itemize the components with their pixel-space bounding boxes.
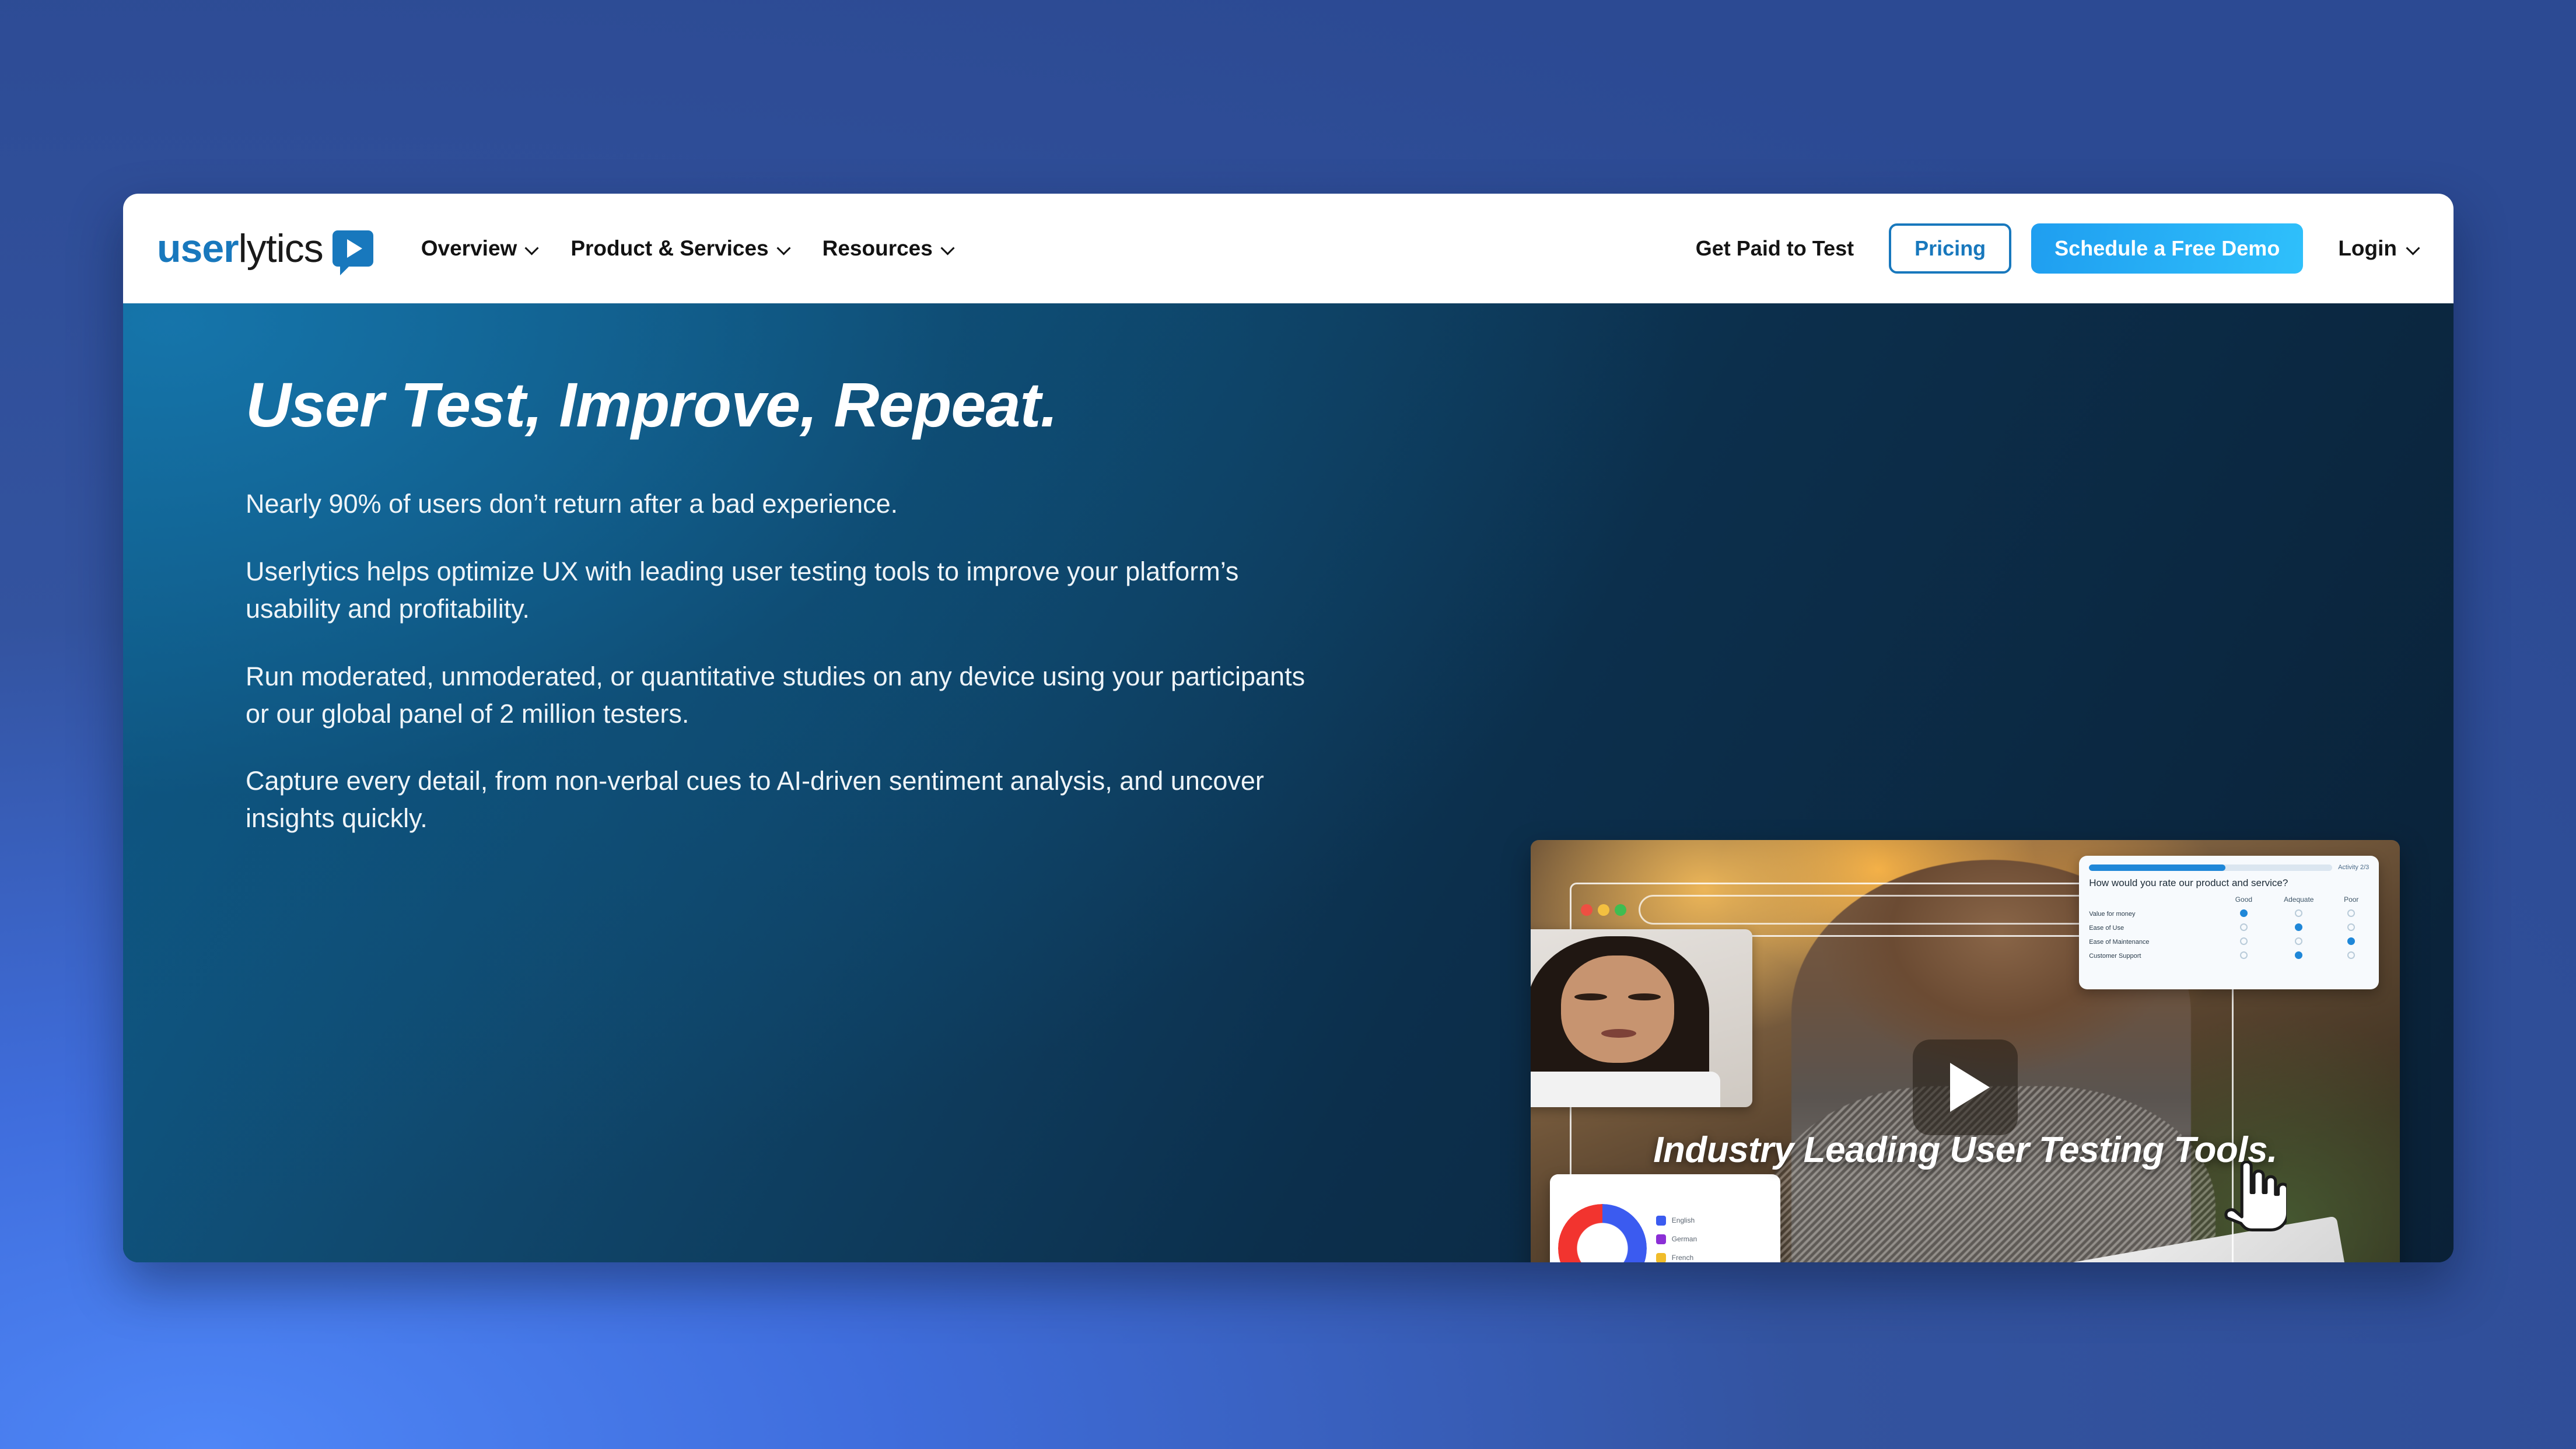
participant-eye-right — [1628, 993, 1660, 1000]
nav-label-resources: Resources — [822, 236, 933, 261]
legend-swatch — [1656, 1234, 1666, 1244]
survey-row: Customer Support — [2089, 949, 2369, 963]
survey-radio-cell[interactable] — [2264, 935, 2333, 949]
nav-item-product-services[interactable]: Product & Services — [570, 236, 790, 261]
hero-paragraph-2: Userlytics helps optimize UX with leadin… — [246, 553, 1316, 628]
survey-radio-cell[interactable] — [2333, 907, 2369, 921]
survey-progress-label: Activity 2/3 — [2338, 864, 2369, 871]
survey-radio-cell[interactable] — [2264, 921, 2333, 935]
site-card: userlytics Overview Product & Services R… — [123, 194, 2453, 1262]
hero-copy: Nearly 90% of users don’t return after a… — [246, 485, 1316, 837]
survey-radio-cell[interactable] — [2264, 949, 2333, 963]
survey-col-good: Good — [2223, 895, 2264, 907]
nav-label-overview: Overview — [421, 236, 517, 261]
survey-body: Value for moneyEase of UseEase of Mainte… — [2089, 907, 2369, 963]
play-triangle-icon — [1950, 1063, 1990, 1112]
logo-lytics-text: lytics — [239, 226, 323, 271]
site-header: userlytics Overview Product & Services R… — [123, 194, 2453, 303]
chevron-down-icon — [526, 242, 538, 255]
pricing-button[interactable]: Pricing — [1889, 223, 2011, 274]
play-button[interactable] — [1913, 1039, 2018, 1135]
radio-icon[interactable] — [2295, 909, 2302, 917]
hero-section: User Test, Improve, Repeat. Nearly 90% o… — [123, 303, 2453, 1262]
survey-progress-row: Activity 2/3 — [2089, 864, 2369, 871]
radio-icon[interactable] — [2347, 951, 2355, 959]
analytics-donut-card: EnglishGermanFrenchSpanish — [1550, 1174, 1780, 1262]
survey-question: How would you rate our product and servi… — [2089, 877, 2369, 889]
radio-icon[interactable] — [2295, 937, 2302, 945]
hero-paragraph-4: Capture every detail, from non-verbal cu… — [246, 762, 1316, 837]
radio-icon[interactable] — [2347, 923, 2355, 931]
nav-label-product-services: Product & Services — [570, 236, 768, 261]
radio-icon[interactable] — [2295, 923, 2302, 931]
login-menu[interactable]: Login — [2338, 236, 2420, 261]
play-speech-bubble-icon — [332, 230, 373, 267]
logo-user-text: user — [157, 226, 239, 271]
survey-radio-cell[interactable] — [2333, 949, 2369, 963]
survey-col-adequate: Adequate — [2264, 895, 2333, 907]
survey-radio-cell[interactable] — [2333, 921, 2369, 935]
hero-paragraph-1: Nearly 90% of users don’t return after a… — [246, 485, 1316, 523]
window-maximize-icon — [1615, 904, 1626, 916]
radio-icon[interactable] — [2347, 937, 2355, 945]
survey-row-label: Customer Support — [2089, 949, 2223, 963]
radio-icon[interactable] — [2240, 951, 2248, 959]
userlytics-logo[interactable]: userlytics — [157, 229, 373, 268]
donut-legend: EnglishGermanFrenchSpanish — [1656, 1216, 1697, 1262]
donut-legend-item: German — [1656, 1234, 1697, 1244]
radio-icon[interactable] — [2240, 923, 2248, 931]
survey-row-label: Ease of Use — [2089, 921, 2223, 935]
hero-video-thumbnail[interactable]: Activity 2/3 How would you rate our prod… — [1531, 840, 2400, 1262]
main-navigation: Overview Product & Services Resources — [421, 236, 954, 261]
chevron-down-icon — [942, 242, 954, 255]
legend-swatch — [1656, 1216, 1666, 1226]
logo-wordmark: userlytics — [157, 229, 323, 268]
radio-icon[interactable] — [2347, 909, 2355, 917]
survey-col-poor: Poor — [2333, 895, 2369, 907]
nav-item-resources[interactable]: Resources — [822, 236, 954, 261]
login-label: Login — [2338, 236, 2397, 261]
participant-mouth — [1601, 1029, 1636, 1038]
participant-eye-left — [1574, 993, 1606, 1000]
survey-table: Good Adequate Poor Value for moneyEase o… — [2089, 895, 2369, 963]
survey-row: Ease of Maintenance — [2089, 935, 2369, 949]
header-actions: Get Paid to Test Pricing Schedule a Free… — [1696, 223, 2420, 274]
survey-row: Value for money — [2089, 907, 2369, 921]
legend-label: French — [1672, 1254, 1693, 1262]
donut-legend-item: English — [1656, 1216, 1697, 1226]
hand-cursor-icon — [2221, 1161, 2287, 1235]
survey-card: Activity 2/3 How would you rate our prod… — [2079, 856, 2379, 989]
survey-row-label: Ease of Maintenance — [2089, 935, 2223, 949]
survey-radio-cell[interactable] — [2223, 907, 2264, 921]
survey-row-label: Value for money — [2089, 907, 2223, 921]
chevron-down-icon — [2407, 242, 2420, 255]
hero-paragraph-3: Run moderated, unmoderated, or quantitat… — [246, 658, 1316, 733]
survey-radio-cell[interactable] — [2223, 921, 2264, 935]
survey-radio-cell[interactable] — [2223, 935, 2264, 949]
radio-icon[interactable] — [2240, 909, 2248, 917]
schedule-demo-button[interactable]: Schedule a Free Demo — [2031, 223, 2303, 274]
legend-label: German — [1672, 1235, 1697, 1243]
donut-legend-item: French — [1656, 1253, 1697, 1262]
nav-item-overview[interactable]: Overview — [421, 236, 539, 261]
survey-radio-cell[interactable] — [2264, 907, 2333, 921]
participant-shirt — [1531, 1072, 1720, 1107]
participant-face — [1561, 956, 1674, 1062]
radio-icon[interactable] — [2240, 937, 2248, 945]
legend-swatch — [1656, 1253, 1666, 1262]
chevron-down-icon — [778, 242, 790, 255]
survey-col-blank — [2089, 895, 2223, 907]
legend-label: English — [1672, 1216, 1695, 1224]
radio-icon[interactable] — [2295, 951, 2302, 959]
window-close-icon — [1581, 904, 1592, 916]
survey-row: Ease of Use — [2089, 921, 2369, 935]
webcam-participant-tile — [1531, 929, 1752, 1107]
survey-header-row: Good Adequate Poor — [2089, 895, 2369, 907]
window-minimize-icon — [1598, 904, 1609, 916]
donut-chart — [1558, 1204, 1647, 1262]
survey-radio-cell[interactable] — [2333, 935, 2369, 949]
survey-progress-bar — [2089, 864, 2332, 871]
get-paid-to-test-link[interactable]: Get Paid to Test — [1696, 236, 1854, 261]
survey-radio-cell[interactable] — [2223, 949, 2264, 963]
page-title: User Test, Improve, Repeat. — [246, 373, 2453, 436]
